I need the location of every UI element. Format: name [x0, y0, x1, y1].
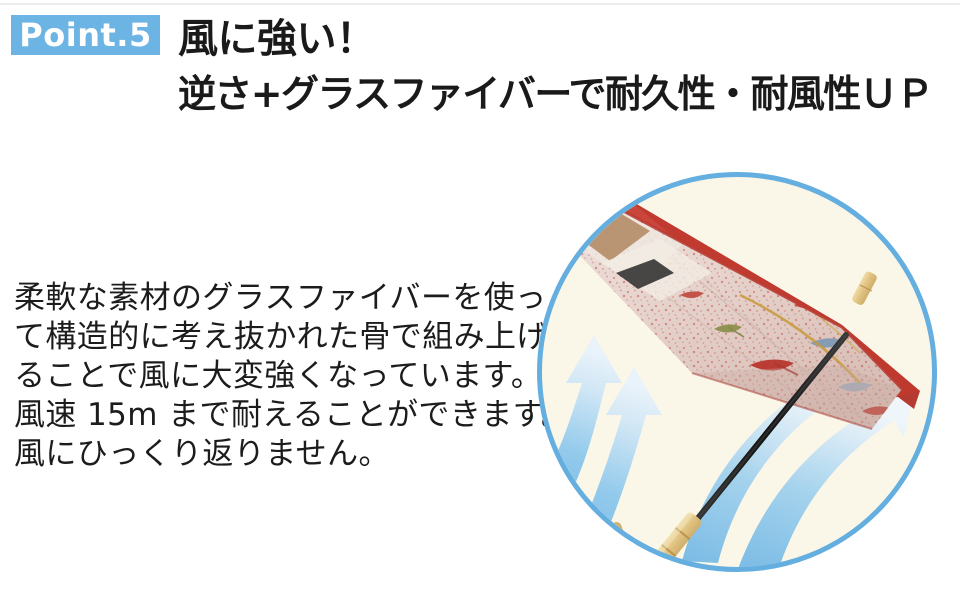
- heading-line-2: 逆さ+グラスファイバーで耐久性・耐風性ＵＰ: [178, 67, 960, 122]
- body-line-3: ることで風に大変強くなっています。: [14, 357, 534, 396]
- point-badge: Point.5: [11, 15, 160, 55]
- bamboo-cap-piece: [595, 520, 625, 544]
- product-photo-circle: [537, 172, 937, 572]
- heading: 風に強い！ 逆さ+グラスファイバーで耐久性・耐風性ＵＰ: [178, 12, 960, 122]
- umbrella-ferrule: [851, 270, 878, 306]
- body-line-2: て構造的に考え抜かれた骨で組み上げ: [14, 318, 534, 357]
- top-divider: [0, 3, 960, 5]
- body-line-5: 風にひっくり返りません。: [14, 435, 534, 474]
- umbrella-illustration: [542, 177, 932, 567]
- feature-slide: Point.5 風に強い！ 逆さ+グラスファイバーで耐久性・耐風性ＵＰ 柔軟な素…: [0, 0, 960, 600]
- body-line-1: 柔軟な素材のグラスファイバーを使っ: [14, 279, 534, 318]
- heading-line-1: 風に強い！: [178, 12, 960, 67]
- point-badge-label: Point.5: [19, 19, 151, 51]
- body-line-4: 風速 15m まで耐えることができます。: [14, 396, 534, 435]
- body-copy: 柔軟な素材のグラスファイバーを使っ て構造的に考え抜かれた骨で組み上げ ることで…: [14, 279, 534, 474]
